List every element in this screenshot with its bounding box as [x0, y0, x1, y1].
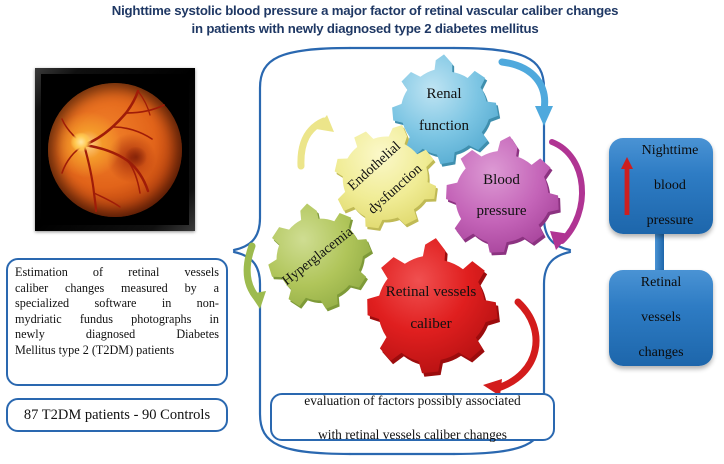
- retinal-vessels-overlay: [48, 83, 182, 217]
- outcome-nighttime-line-1: Nighttime: [642, 142, 699, 160]
- methods-line-3: specialized software in non-: [15, 296, 219, 312]
- outcome-nighttime-line-3: pressure: [642, 212, 699, 230]
- evaluation-line-2: with retinal vessels caliber changes: [304, 426, 520, 443]
- outcome-nighttime-line-2: blood: [642, 177, 699, 195]
- methods-box: Estimation of retinal vessels caliber ch…: [6, 258, 228, 386]
- retina-disc: [48, 83, 182, 217]
- outcome-box-retinal-vessels-changes: Retinal vessels changes: [609, 270, 713, 366]
- participants-text: 87 T2DM patients - 90 Controls: [24, 407, 210, 424]
- outcome-retinal-line-2: vessels: [638, 309, 683, 327]
- methods-line-4: mydriatic fundus photographs in: [15, 312, 219, 328]
- evaluation-box: evaluation of factors possibly associate…: [270, 393, 555, 441]
- outcome-retinal-line-3: changes: [638, 344, 683, 362]
- gear-retinal-vessels-caliber: Retinal vessels caliber: [358, 235, 504, 381]
- methods-line-2: caliber changes measured by a: [15, 281, 219, 297]
- optic-disc: [71, 133, 91, 151]
- outcome-box-nighttime-blood-pressure: Nighttime blood pressure: [609, 138, 713, 234]
- title-line-2: in patients with newly diagnosed type 2 …: [60, 20, 670, 38]
- evaluation-line-1: evaluation of factors possibly associate…: [304, 392, 520, 409]
- methods-line-6: Mellitus type 2 (T2DM) patients: [15, 343, 219, 359]
- outcome-connector: [655, 233, 664, 273]
- up-arrow-icon: [621, 157, 633, 215]
- methods-text: Estimation of retinal vessels caliber ch…: [15, 265, 219, 359]
- outcome-retinal-line-1: Retinal: [638, 274, 683, 292]
- retinal-fundus-photograph: [35, 68, 195, 231]
- methods-line-1: Estimation of retinal vessels: [15, 265, 219, 281]
- page-title: Nighttime systolic blood pressure a majo…: [60, 2, 670, 38]
- participants-box: 87 T2DM patients - 90 Controls: [6, 398, 228, 432]
- macula: [125, 147, 147, 167]
- photo-inner: [41, 74, 189, 225]
- title-line-1: Nighttime systolic blood pressure a majo…: [60, 2, 670, 20]
- infographic-canvas: Nighttime systolic blood pressure a majo…: [0, 0, 724, 464]
- methods-line-5: newly diagnosed Diabetes: [15, 327, 219, 343]
